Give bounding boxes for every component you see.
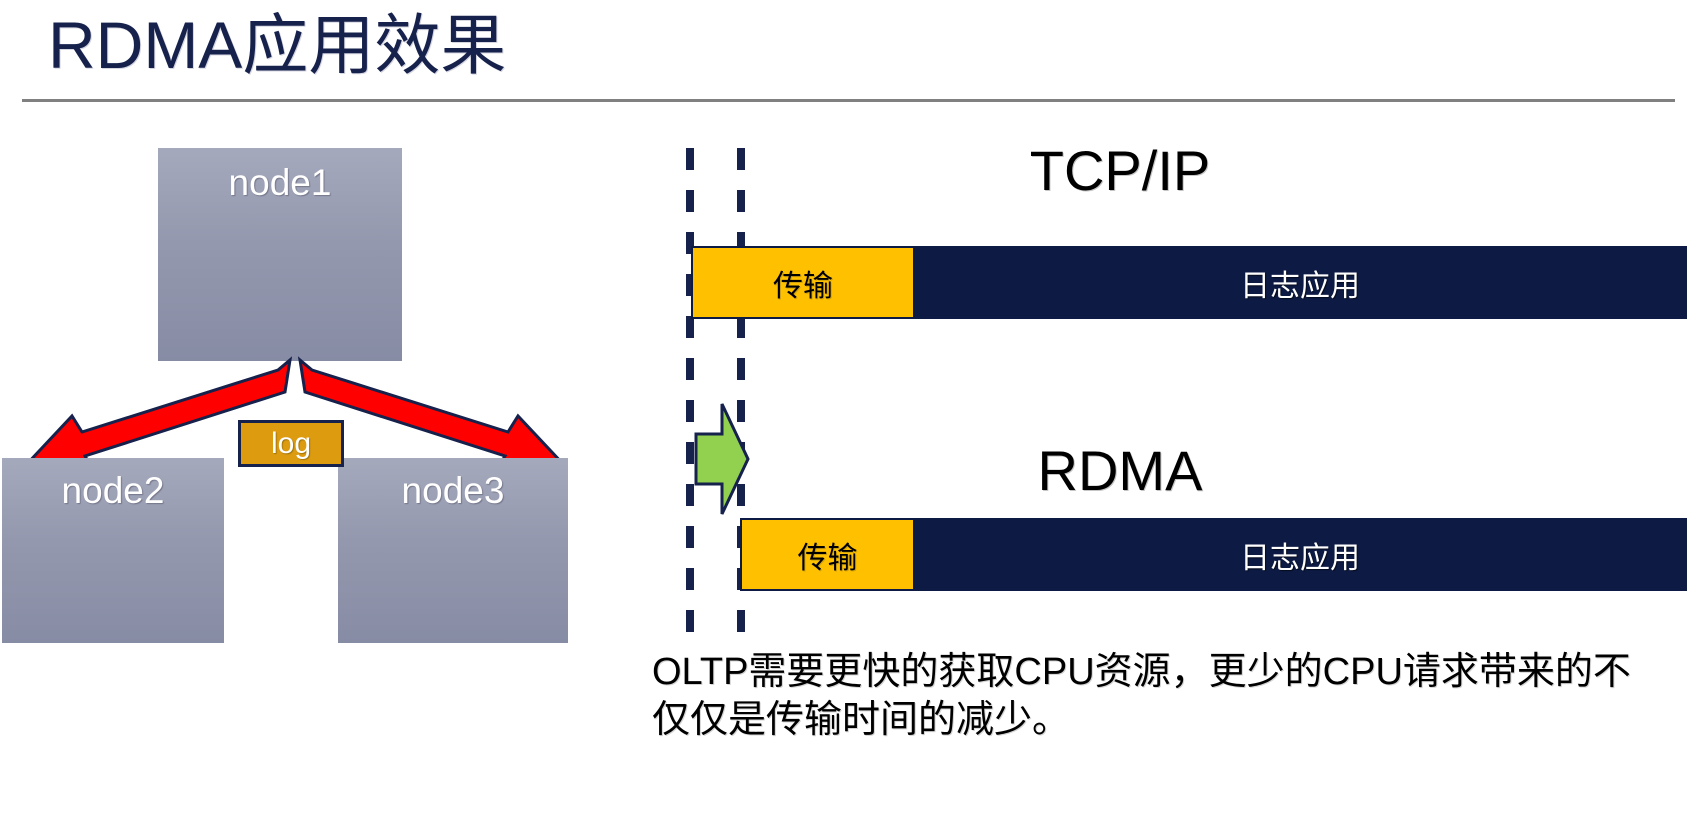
node3-label: node3 (402, 470, 505, 511)
log-box: log (238, 420, 344, 467)
protocol-label-tcpip: TCP/IP (950, 138, 1290, 203)
page-title: RDMA应用效果 (48, 4, 506, 86)
timeline-bar-tcpip: 传输 日志应用 (691, 246, 1687, 319)
speedup-arrow-icon (688, 400, 752, 518)
title-divider (22, 99, 1675, 102)
slide-canvas: RDMA应用效果 node1 node2 node3 log TCP/IP 传输… (0, 0, 1696, 826)
segment-log-application-rdma: 日志应用 (915, 520, 1685, 589)
node-box-node2: node2 (2, 458, 224, 643)
protocol-label-rdma: RDMA (950, 438, 1290, 503)
node-box-node3: node3 (338, 458, 568, 643)
node-box-node1: node1 (158, 148, 402, 361)
caption-text: OLTP需要更快的获取CPU资源，更少的CPU请求带来的不仅仅是传输时间的减少。 (652, 648, 1652, 744)
segment-transfer-tcpip: 传输 (693, 248, 915, 317)
segment-transfer-rdma: 传输 (742, 520, 915, 589)
segment-log-application-tcpip: 日志应用 (915, 248, 1685, 317)
timeline-bar-rdma: 传输 日志应用 (740, 518, 1687, 591)
node1-label: node1 (229, 162, 332, 203)
log-label: log (271, 427, 311, 460)
node2-label: node2 (62, 470, 165, 511)
timeline-marker-start (686, 148, 694, 636)
